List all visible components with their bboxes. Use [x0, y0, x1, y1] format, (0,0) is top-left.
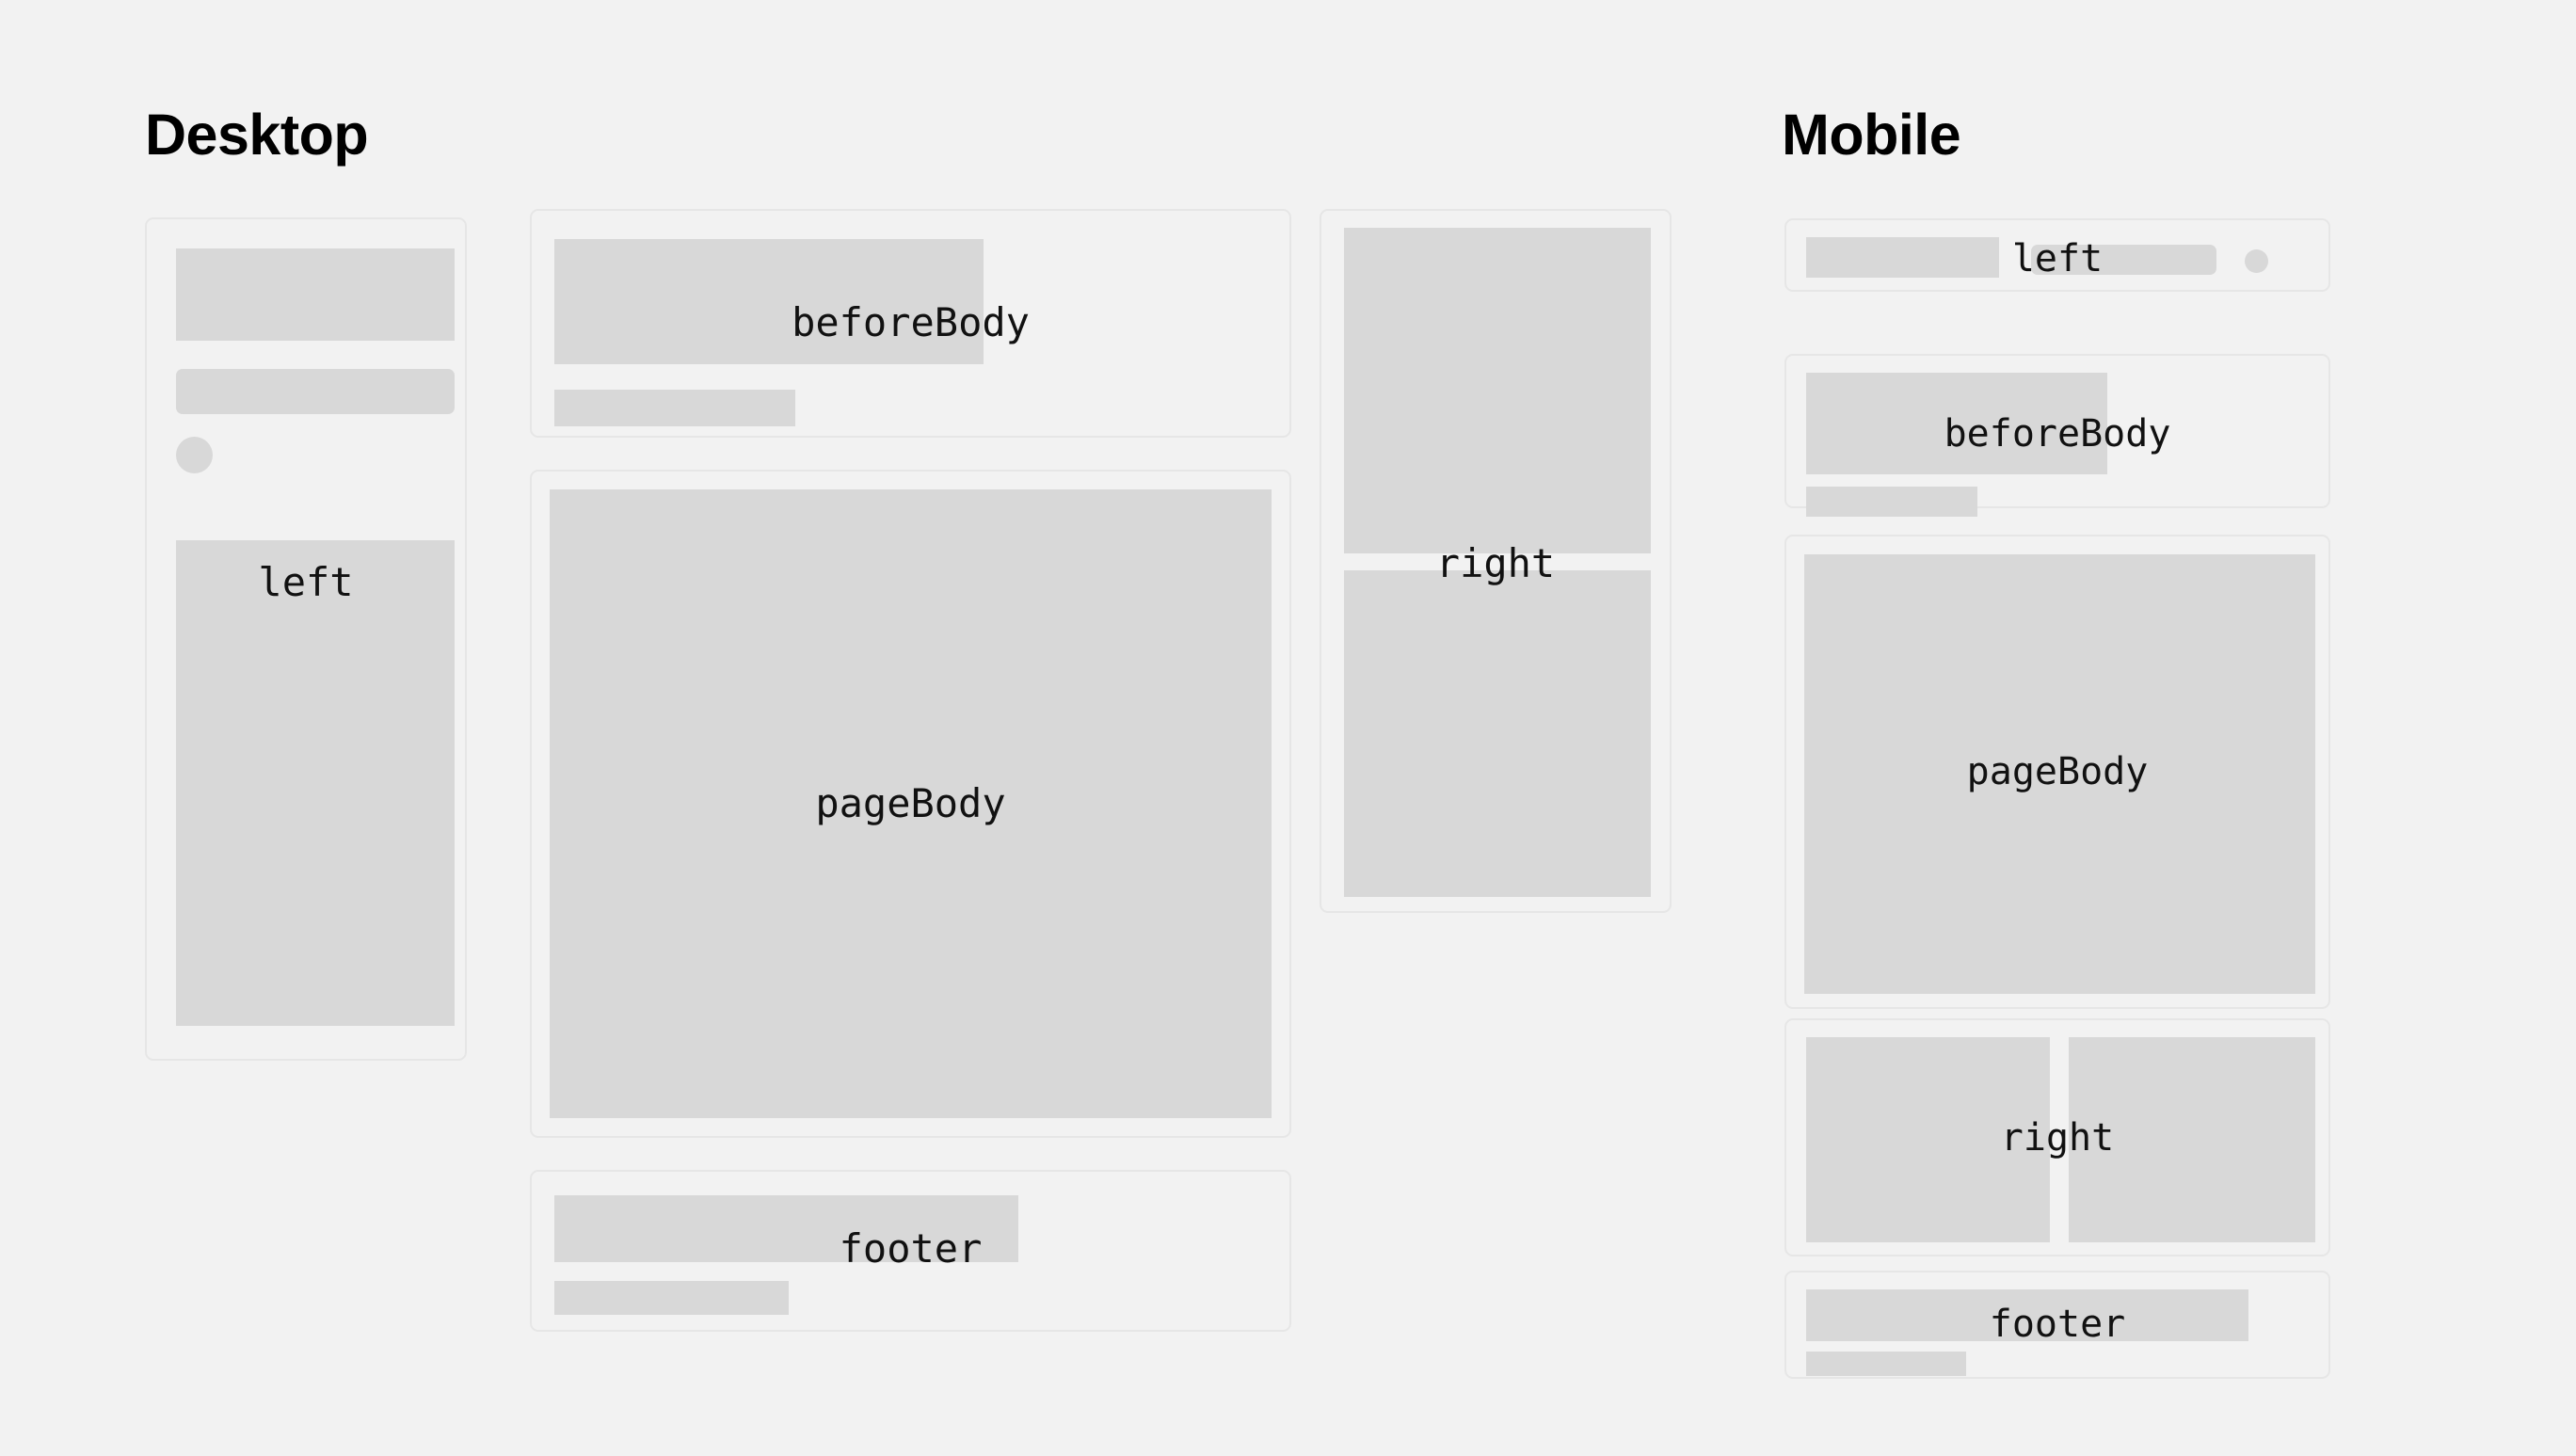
placeholder-circle-icon — [176, 437, 213, 473]
placeholder-block-wide — [554, 239, 984, 364]
placeholder-bar-small — [554, 1281, 789, 1315]
desktop-section-heading: Desktop — [145, 106, 368, 164]
placeholder-block-left-col — [1806, 1037, 2050, 1242]
mobile-beforebody-zone-panel[interactable] — [1784, 354, 2330, 508]
placeholder-block-wide — [1806, 373, 2107, 474]
placeholder-block-hero — [176, 248, 455, 341]
placeholder-bar-small — [1806, 1352, 1966, 1376]
desktop-footer-zone-panel[interactable] — [530, 1170, 1291, 1332]
desktop-beforebody-zone-panel[interactable] — [530, 209, 1291, 438]
placeholder-block-wide — [554, 1195, 1018, 1262]
desktop-right-zone-panel[interactable] — [1320, 209, 1672, 913]
placeholder-block-top — [1344, 228, 1651, 553]
placeholder-block-body — [550, 489, 1272, 1118]
placeholder-bar-small — [1806, 487, 1977, 517]
mobile-footer-zone-panel[interactable] — [1784, 1271, 2330, 1379]
placeholder-bar — [176, 369, 455, 414]
desktop-pagebody-zone-panel[interactable] — [530, 470, 1291, 1138]
placeholder-block-wide — [1806, 1289, 2248, 1341]
mobile-left-zone-panel[interactable] — [1784, 218, 2330, 292]
placeholder-bar-small — [554, 390, 795, 426]
mobile-pagebody-zone-panel[interactable] — [1784, 535, 2330, 1009]
placeholder-circle-icon — [2245, 249, 2268, 273]
placeholder-block-tall — [176, 540, 455, 1026]
placeholder-block-right-col — [2069, 1037, 2315, 1242]
placeholder-block-bottom — [1344, 570, 1651, 897]
mobile-section-heading: Mobile — [1782, 106, 1960, 164]
placeholder-bar — [2031, 245, 2216, 275]
mobile-right-zone-panel[interactable] — [1784, 1018, 2330, 1256]
desktop-left-zone-panel[interactable] — [145, 217, 467, 1061]
placeholder-block-body — [1804, 554, 2315, 994]
placeholder-block-logo — [1806, 237, 1999, 278]
